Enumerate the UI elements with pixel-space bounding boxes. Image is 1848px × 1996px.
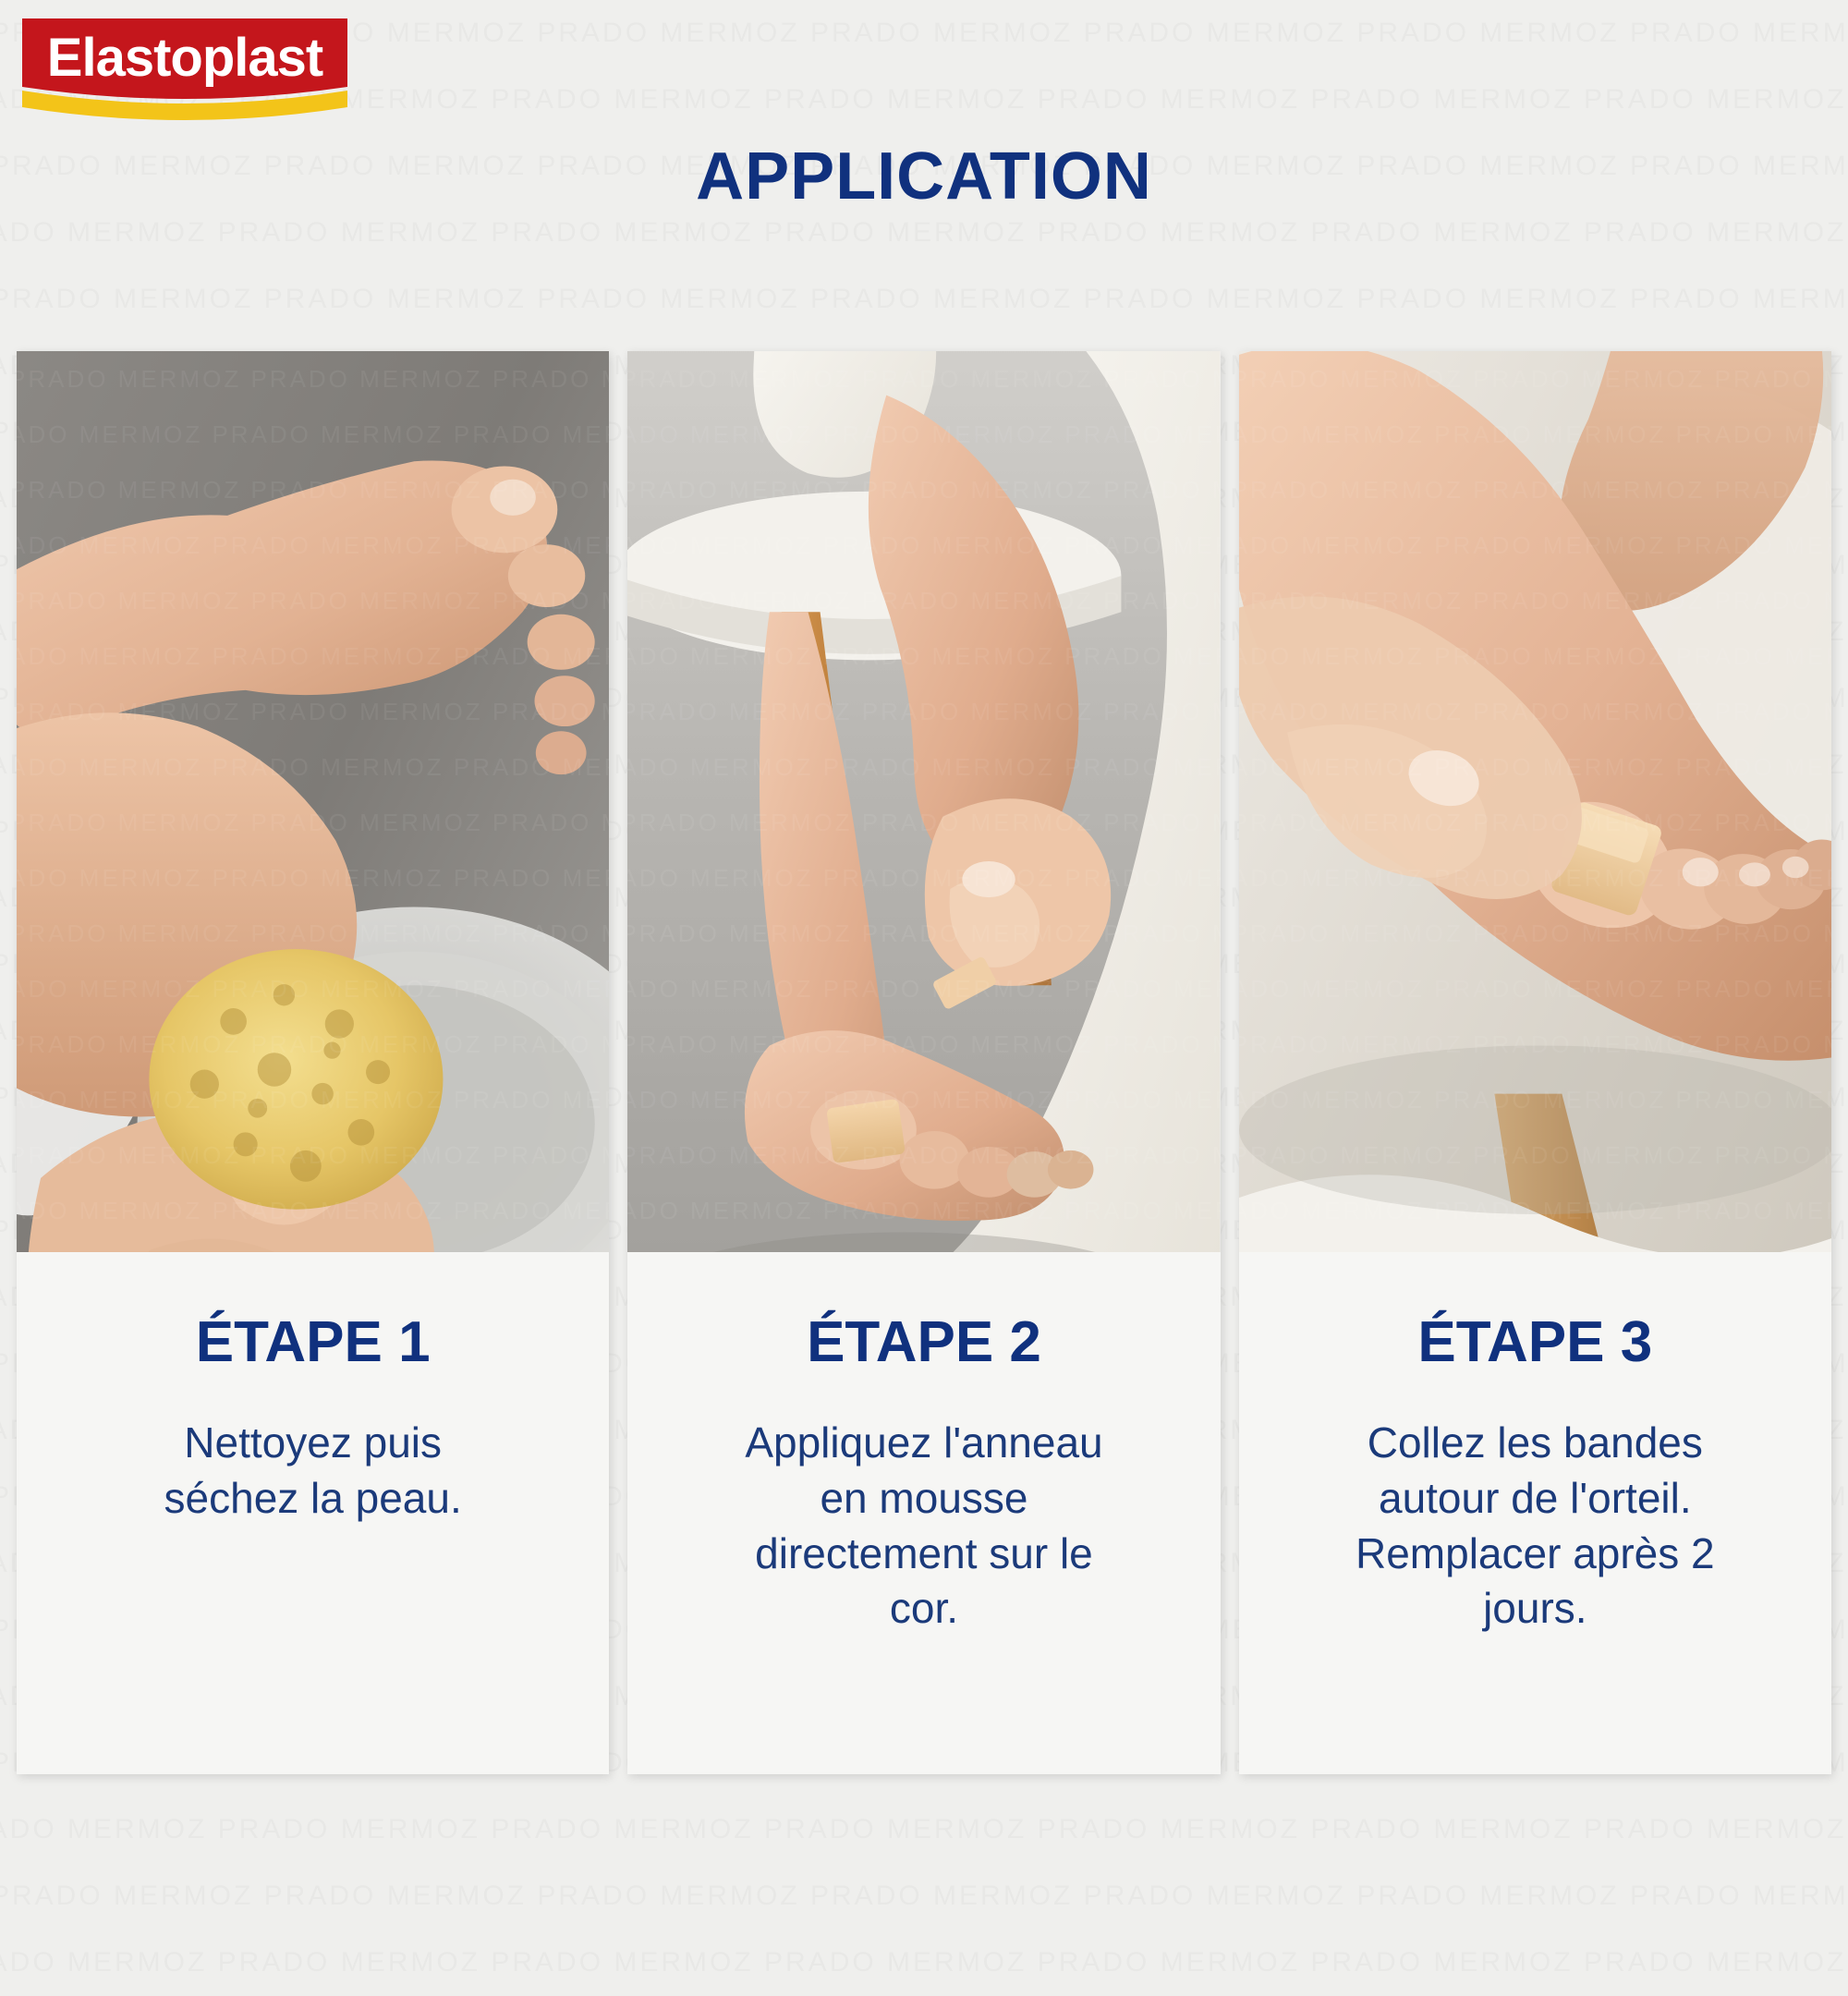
step-card-1[interactable]: PRADO MERMOZ PRADO MERMOZ PRADO MERMOZ P… [17, 351, 609, 1774]
watermark-row: PRADO MERMOZ PRADO MERMOZ PRADO MERMOZ P… [0, 1929, 1848, 1996]
step-1-label: ÉTAPE 1 [196, 1309, 431, 1375]
logo-wordmark: Elastoplast [18, 15, 351, 100]
step-1-text: Nettoyez puis séchez la peau. [115, 1416, 512, 1527]
foot-washing-with-sponge-illustration [17, 351, 609, 1252]
step-2-photo: PRADO MERMOZ PRADO MERMOZ PRADO MERMOZ P… [627, 351, 1220, 1252]
infographic-stage: Elastoplast APPLICATION [0, 0, 1848, 1848]
elastoplast-logo: Elastoplast [18, 15, 351, 131]
step-3-label: ÉTAPE 3 [1417, 1309, 1652, 1375]
step-3-caption: ÉTAPE 3 Collez les bandes autour de l'or… [1239, 1252, 1831, 1774]
page-title: APPLICATION [0, 139, 1848, 214]
step-1-photo: PRADO MERMOZ PRADO MERMOZ PRADO MERMOZ P… [17, 351, 609, 1252]
step-2-label: ÉTAPE 2 [807, 1309, 1041, 1375]
step-3-text: Collez les bandes autour de l'orteil. Re… [1336, 1416, 1733, 1637]
step-2-text: Appliquez l'anneau en mousse directement… [725, 1416, 1123, 1637]
step-1-caption: ÉTAPE 1 Nettoyez puis séchez la peau. [17, 1252, 609, 1774]
plaster-strips-wrapped-around-toe-illustration [1239, 351, 1831, 1252]
step-2-caption: ÉTAPE 2 Appliquez l'anneau en mousse dir… [627, 1252, 1220, 1774]
step-card-2[interactable]: PRADO MERMOZ PRADO MERMOZ PRADO MERMOZ P… [627, 351, 1220, 1774]
step-3-photo: PRADO MERMOZ PRADO MERMOZ PRADO MERMOZ P… [1239, 351, 1831, 1252]
applying-foam-ring-to-toe-illustration [627, 351, 1220, 1252]
steps-container: PRADO MERMOZ PRADO MERMOZ PRADO MERMOZ P… [17, 351, 1831, 1774]
step-card-3[interactable]: PRADO MERMOZ PRADO MERMOZ PRADO MERMOZ P… [1239, 351, 1831, 1774]
watermark-row: PRADO MERMOZ PRADO MERMOZ PRADO MERMOZ P… [0, 1863, 1848, 1929]
